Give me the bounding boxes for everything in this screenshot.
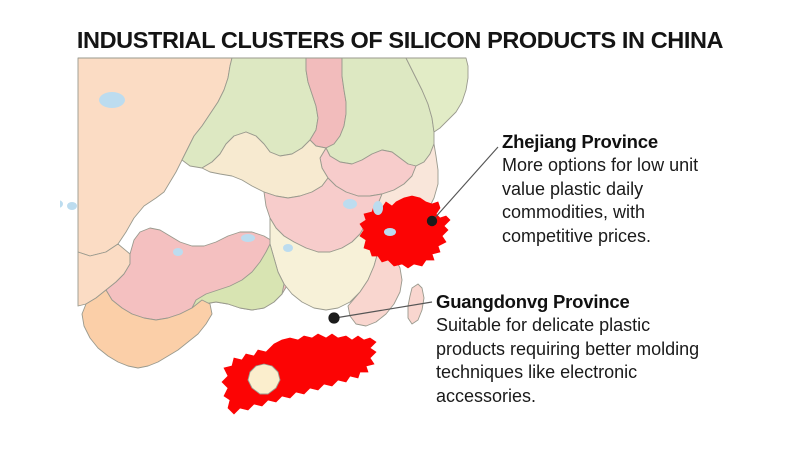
lake-dongting — [343, 199, 357, 209]
lake-small-b — [67, 202, 77, 210]
lake-hongze — [241, 234, 255, 242]
page-title: INDUSTRIAL CLUSTERS OF SILICON PRODUCTS … — [0, 27, 800, 54]
lake-chao — [283, 244, 293, 252]
china-map-svg — [60, 56, 480, 418]
province-taiwan — [408, 284, 424, 324]
province-guangdong-highlight — [222, 334, 376, 414]
callout-zhejiang-heading: Zhejiang Province — [502, 131, 717, 153]
china-map — [60, 56, 480, 418]
lake-poyang — [373, 201, 383, 215]
lake-nw-small — [173, 248, 183, 256]
lake-small-a — [60, 200, 63, 208]
callout-guangdong-body: Suitable for delicate plastic products r… — [436, 314, 716, 408]
callout-guangdong: Guangdonvg Province Suitable for delicat… — [436, 291, 716, 408]
callout-guangdong-heading: Guangdonvg Province — [436, 291, 716, 313]
callout-zhejiang-body: More options for low unit value plastic … — [502, 154, 717, 248]
lake-taihu — [384, 228, 396, 236]
infographic-canvas: INDUSTRIAL CLUSTERS OF SILICON PRODUCTS … — [0, 0, 800, 450]
callout-zhejiang: Zhejiang Province More options for low u… — [502, 131, 717, 248]
lake-qinghai — [99, 92, 125, 108]
